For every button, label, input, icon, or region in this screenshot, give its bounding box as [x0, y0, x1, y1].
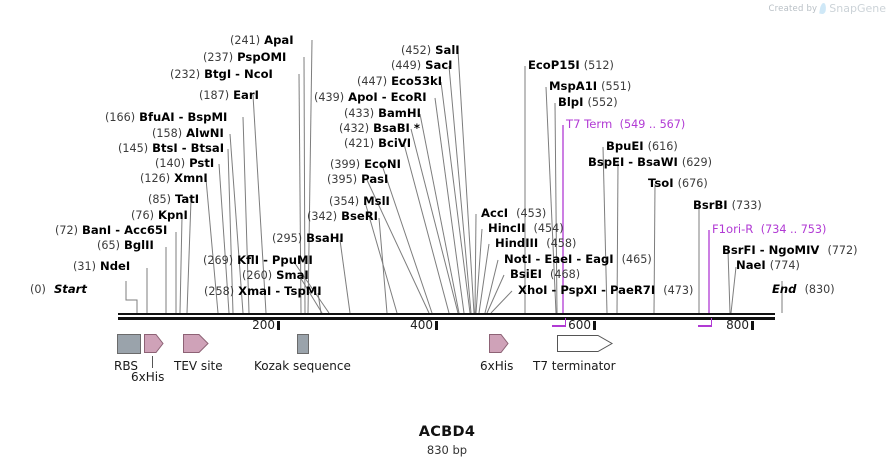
ruler-tick-600 [593, 321, 596, 330]
feature-glyph-rbs[interactable] [117, 334, 141, 354]
feature-connector-6xhis [152, 356, 153, 368]
snapgene-watermark: Created by SnapGene [769, 2, 887, 15]
enzyme-label[interactable]: BsiEI (468) [510, 268, 580, 281]
enzyme-label[interactable]: (237) PspOMI [203, 51, 286, 64]
enzyme-label[interactable]: NotI - EaeI - EagI (465) [504, 253, 652, 266]
feature-label-t7-term[interactable]: T7 Term (549 .. 567) [566, 118, 685, 131]
page-title: ACBD4 [0, 424, 894, 440]
enzyme-label[interactable]: (258) XmaI - TspMI [204, 285, 322, 298]
enzyme-label[interactable]: (433) BamHI [344, 107, 421, 120]
enzyme-label[interactable]: (354) MslI [329, 195, 390, 208]
feature-glyph-tev-site[interactable] [183, 334, 209, 353]
enzyme-label[interactable]: NaeI (774) [736, 259, 800, 272]
enzyme-label[interactable]: HindIII (458) [495, 237, 576, 250]
enzyme-label[interactable]: (126) XmnI [140, 172, 208, 185]
feature-span-f1ori-r[interactable] [698, 325, 712, 327]
enzyme-label[interactable]: (31) NdeI [73, 260, 130, 273]
enzyme-label[interactable]: (158) AlwNI [152, 127, 224, 140]
ruler-tick-800 [751, 321, 754, 330]
enzyme-label[interactable]: AccI (453) [481, 207, 546, 220]
feature-glyph-6xhis-left[interactable] [144, 334, 164, 353]
ruler-tick-label-800: 800 [726, 318, 751, 332]
feature-name-tev-site: TEV site [174, 359, 223, 373]
enzyme-label[interactable]: XhoI - PspXI - PaeR7I (473) [518, 284, 693, 297]
enzyme-label[interactable]: (166) BfuAI - BspMI [105, 111, 227, 124]
ruler-tick-200 [277, 321, 280, 330]
ruler-tick-label-200: 200 [252, 318, 277, 332]
enzyme-label[interactable]: (85) TatI [148, 193, 199, 206]
enzyme-label[interactable]: BspEI - BsaWI (629) [588, 156, 712, 169]
enzyme-label[interactable]: HincII (454) [488, 222, 564, 235]
plasmid-map: Created by SnapGene [0, 0, 894, 464]
enzyme-label[interactable]: (269) KflI - PpuMI [203, 254, 313, 267]
terminal-start-label[interactable]: (0) Start [30, 283, 87, 296]
ruler-line-thick [118, 317, 775, 320]
ruler-line-thin [118, 313, 775, 315]
enzyme-label[interactable]: (232) BtgI - NcoI [170, 68, 273, 81]
enzyme-label[interactable]: BsrBI (733) [693, 199, 762, 212]
enzyme-label[interactable]: (399) EcoNI [330, 158, 401, 171]
feature-stem-f1ori-r [711, 318, 712, 326]
ruler-tick-400 [435, 321, 438, 330]
watermark-prefix: Created by [769, 4, 818, 14]
feature-name-6xhis-left: 6xHis [131, 370, 164, 384]
enzyme-label[interactable]: (452) SalI [401, 44, 460, 57]
enzyme-label[interactable]: (260) SmaI [242, 269, 309, 282]
enzyme-label[interactable]: BpuEI (616) [606, 140, 678, 153]
enzyme-label[interactable]: (241) ApaI [230, 34, 294, 47]
ruler-tick-label-600: 600 [568, 318, 593, 332]
watermark-brand: SnapGene [829, 2, 886, 15]
enzyme-label[interactable]: (439) ApoI - EcoRI [314, 91, 427, 104]
enzyme-label[interactable]: EcoP15I (512) [528, 59, 614, 72]
feature-name-kozak: Kozak sequence [254, 359, 351, 373]
ruler-tick-label-400: 400 [410, 318, 435, 332]
enzyme-label[interactable]: (145) BtsI - BtsaI [118, 142, 224, 155]
feature-glyph-kozak[interactable] [297, 334, 309, 354]
feature-name-t7-terminator: T7 terminator [533, 359, 616, 373]
feature-glyph-t7-terminator[interactable] [557, 333, 613, 354]
page-subtitle-length: 830 bp [0, 443, 894, 457]
enzyme-label[interactable]: (421) BciVI [344, 137, 411, 150]
feature-name-6xhis-right: 6xHis [480, 359, 513, 373]
enzyme-label[interactable]: (140) PstI [155, 157, 214, 170]
feature-label-f1ori-r[interactable]: F1ori-R (734 .. 753) [712, 223, 826, 236]
enzyme-label[interactable]: (449) SacI [391, 59, 453, 72]
enzyme-label[interactable]: (295) BsaHI [272, 232, 344, 245]
enzyme-label[interactable]: BlpI (552) [558, 96, 618, 109]
enzyme-label[interactable]: MspA1I (551) [549, 80, 631, 93]
enzyme-label[interactable]: (447) Eco53kI [357, 75, 442, 88]
feature-glyph-6xhis-right[interactable] [489, 334, 509, 353]
enzyme-label[interactable]: BsrFI - NgoMIV (772) [722, 244, 858, 257]
enzyme-label[interactable]: (395) PasI [327, 173, 388, 186]
enzyme-label[interactable]: (72) BanI - Acc65I [55, 224, 167, 237]
enzyme-label[interactable]: (76) KpnI [131, 209, 188, 222]
terminal-end-label[interactable]: End (830) [772, 283, 835, 296]
sequence-ruler[interactable] [118, 313, 775, 320]
enzyme-label[interactable]: (342) BseRI [307, 210, 378, 223]
feature-span-t7-term[interactable] [552, 325, 566, 327]
snapgene-logo-icon [820, 3, 827, 15]
enzyme-label[interactable]: (65) BglII [97, 239, 154, 252]
enzyme-label[interactable]: (432) BsaBI * [339, 122, 420, 135]
enzyme-label[interactable]: (187) EarI [199, 89, 259, 102]
feature-stem-t7-term [565, 318, 566, 326]
enzyme-label[interactable]: TsoI (676) [648, 177, 708, 190]
